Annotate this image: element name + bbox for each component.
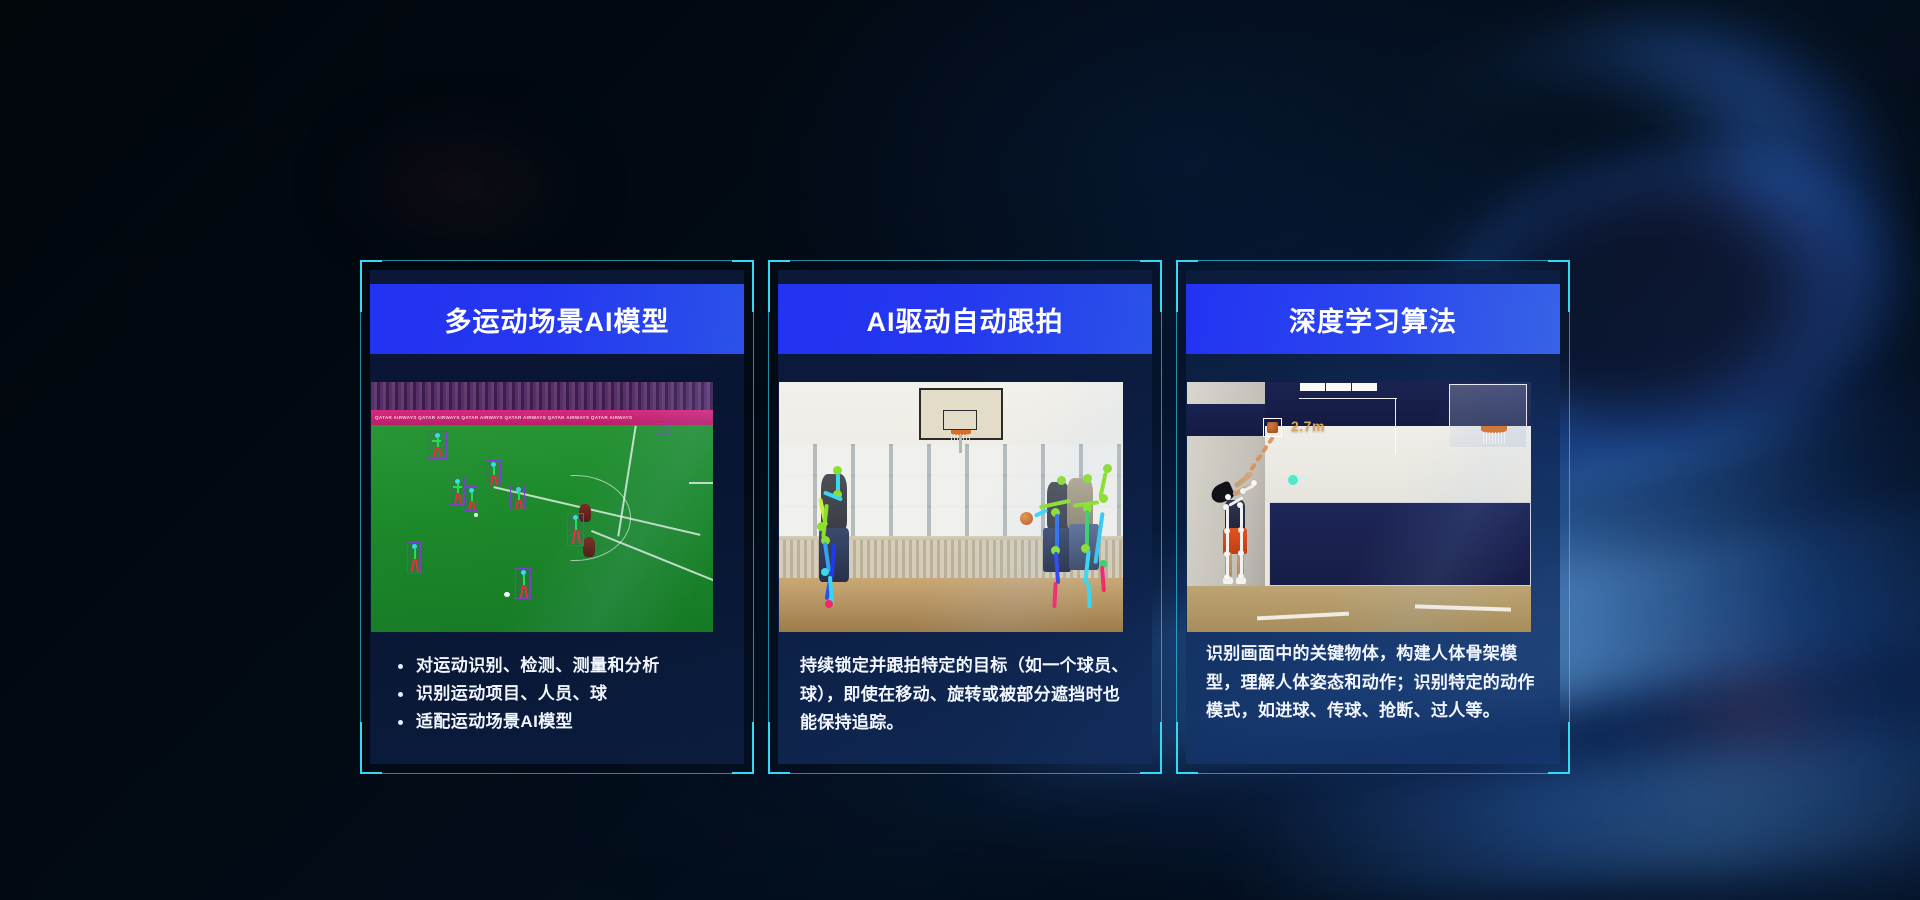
frame-rule-bottom <box>790 773 1140 774</box>
bone-thigh-right <box>1240 530 1243 552</box>
wall-pad <box>1269 502 1531 586</box>
card-body: 对运动识别、检测、测量和分析 识别运动项目、人员、球 适配运动场景AI模型 <box>392 652 728 736</box>
frame-rule-right <box>753 312 754 722</box>
card-paragraph: 识别画面中的关键物体，构建人体骨架模型，理解人体姿态和动作；识别特定的动作模式，… <box>1206 640 1546 726</box>
soccer-ball-second <box>504 592 510 597</box>
basketball-net <box>1483 432 1505 444</box>
keypoint-node-tail <box>1297 478 1307 479</box>
card-thumbnail-soccer-detection[interactable]: QATAR AIRWAYS QATAR AIRWAYS QATAR AIRWAY… <box>371 382 713 632</box>
backboard-inner-square <box>943 410 977 430</box>
pose-skeleton <box>568 514 583 545</box>
gym-shot-scene: 2.7m <box>1187 382 1531 632</box>
detection-box <box>427 431 447 459</box>
feature-card-row: 多运动场景AI模型 QATAR AIRWAYS QATAR AIRWAYS QA… <box>0 0 1920 900</box>
frame-rule-right <box>1569 312 1570 722</box>
pose-skeleton <box>813 464 869 626</box>
card-body: 持续锁定并跟拍特定的目标（如一个球员、球），即使在移动、旋转或被部分遮挡时也能保… <box>800 652 1136 738</box>
frame-rule-left <box>1176 312 1177 722</box>
scoreboard-cell <box>1352 383 1378 391</box>
bone-shin-right <box>1240 553 1243 575</box>
bone-torso-left <box>1226 508 1229 530</box>
detection-box <box>485 460 501 486</box>
sponsor-board-text: QATAR AIRWAYS QATAR AIRWAYS QATAR AIRWAY… <box>371 415 636 420</box>
scoreboard-cell <box>1326 383 1352 391</box>
soccer-ball <box>474 513 478 517</box>
soccer-pitch-scene: QATAR AIRWAYS QATAR AIRWAYS QATAR AIRWAY… <box>371 382 713 632</box>
column-band <box>1187 404 1265 436</box>
pose-skeleton <box>408 543 420 573</box>
bone-torso-right <box>1240 506 1243 528</box>
keypoint-head <box>1225 494 1231 500</box>
hoop-support-pole <box>959 435 962 453</box>
frame-rule-bottom <box>382 773 732 774</box>
measurement-line-horizontal <box>1299 398 1397 399</box>
detection-box <box>655 423 669 435</box>
keypoint-node <box>1287 474 1299 486</box>
card-panel: AI驱动自动跟拍 <box>778 270 1152 764</box>
bullet-item: 对运动识别、检测、测量和分析 <box>392 652 728 680</box>
frame-rule-right <box>1161 312 1162 722</box>
card-thumbnail-gym-pose[interactable] <box>779 382 1123 632</box>
frame-rule-top <box>382 260 732 261</box>
feature-card-ai-auto-tracking[interactable]: AI驱动自动跟拍 <box>768 260 1162 774</box>
frame-rule-top <box>1198 260 1548 261</box>
card-panel: 深度学习算法 <box>1186 270 1560 764</box>
pitch-line-right-small <box>689 482 713 484</box>
detection-box <box>463 486 478 511</box>
slide-canvas: 多运动场景AI模型 QATAR AIRWAYS QATAR AIRWAYS QA… <box>0 0 1920 900</box>
card-title: AI驱动自动跟拍 <box>778 284 1152 354</box>
card-title: 深度学习算法 <box>1186 284 1560 354</box>
pose-skeleton <box>1025 460 1115 626</box>
opponent-player <box>583 537 595 557</box>
gym-scene <box>779 382 1123 632</box>
frame-rule-top <box>790 260 1140 261</box>
bullet-list: 对运动识别、检测、测量和分析 识别运动项目、人员、球 适配运动场景AI模型 <box>392 652 728 736</box>
feature-card-multi-sport-ai-model[interactable]: 多运动场景AI模型 QATAR AIRWAYS QATAR AIRWAYS QA… <box>360 260 754 774</box>
bone-thigh-left <box>1226 531 1229 553</box>
pose-skeleton <box>486 461 500 485</box>
feature-card-deep-learning-algorithm[interactable]: 深度学习算法 <box>1176 260 1570 774</box>
pose-skeleton <box>450 478 464 504</box>
frame-rule-bottom <box>1198 773 1548 774</box>
card-paragraph: 持续锁定并跟拍特定的目标（如一个球员、球），即使在移动、旋转或被部分遮挡时也能保… <box>800 652 1136 738</box>
stadium-crowd <box>371 382 713 412</box>
frame-rule-left <box>768 312 769 722</box>
card-panel: 多运动场景AI模型 QATAR AIRWAYS QATAR AIRWAYS QA… <box>370 270 744 764</box>
pose-skeleton <box>516 569 530 598</box>
ball-detection-box <box>1263 418 1282 437</box>
pose-skeleton <box>464 487 477 510</box>
card-thumbnail-shot-tracking[interactable]: 2.7m <box>1187 382 1531 632</box>
detection-box <box>515 568 531 599</box>
shooting-player <box>1209 478 1263 586</box>
bone-shin-left <box>1226 554 1229 576</box>
card-body: 识别画面中的关键物体，构建人体骨架模型，理解人体姿态和动作；识别特定的动作模式，… <box>1206 640 1546 726</box>
card-title: 多运动场景AI模型 <box>370 284 744 354</box>
pose-skeleton <box>511 486 524 509</box>
bullet-item: 适配运动场景AI模型 <box>392 708 728 736</box>
detection-box <box>510 485 525 510</box>
distance-label: 2.7m <box>1291 418 1325 434</box>
tracked-ball <box>1267 422 1278 433</box>
frame-rule-left <box>360 312 361 722</box>
detection-box <box>567 513 584 546</box>
detection-box <box>407 542 421 574</box>
scoreboard <box>1299 382 1379 392</box>
pose-skeleton <box>428 432 446 458</box>
measurement-line-vertical <box>1395 398 1396 454</box>
bullet-item: 识别运动项目、人员、球 <box>392 680 728 708</box>
scoreboard-cell <box>1300 383 1326 391</box>
